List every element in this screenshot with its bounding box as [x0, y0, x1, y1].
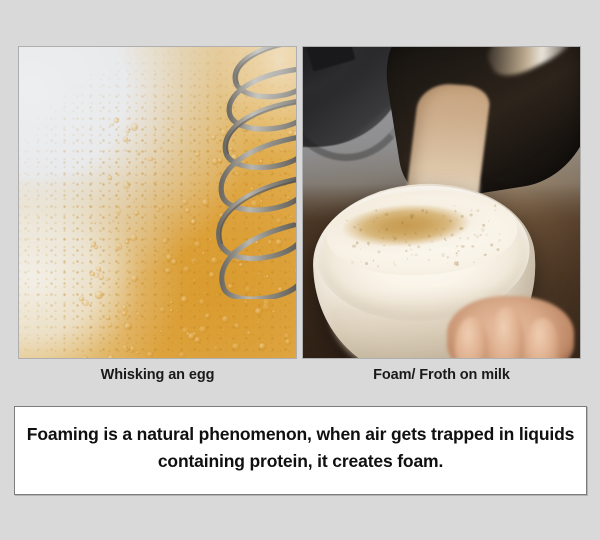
- foaming-infographic: { "background_color": "#d9d9d9", "figure…: [0, 0, 600, 540]
- caption-whisking-an-egg: Whisking an egg: [19, 364, 296, 390]
- statement-box: Foaming is a natural phenomenon, when ai…: [14, 406, 587, 495]
- caption-foam-froth-on-milk: Foam/ Froth on milk: [303, 364, 580, 390]
- pitcher-highlight: [480, 47, 580, 84]
- statement-text: Foaming is a natural phenomenon, when ai…: [26, 421, 574, 475]
- finger: [526, 318, 559, 358]
- finger: [490, 307, 523, 358]
- photo-foam-froth-on-milk: [303, 47, 580, 358]
- caption-row: Whisking an egg Foam/ Froth on milk: [19, 364, 581, 390]
- whisk-highlight: [216, 47, 296, 157]
- figure-row: [19, 47, 581, 358]
- statement-line-1: Foaming is a natural phenomenon, when ai…: [27, 424, 514, 444]
- hand-holding-cup: [447, 296, 574, 358]
- photo-whisking-an-egg: [19, 47, 296, 358]
- finger: [455, 317, 488, 358]
